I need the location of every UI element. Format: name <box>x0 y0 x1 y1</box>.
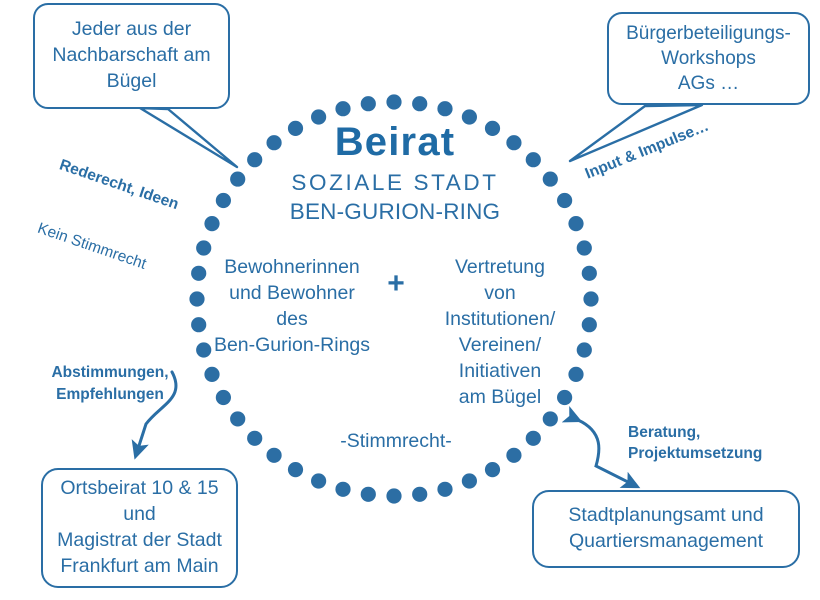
ring-dot <box>361 487 376 502</box>
ring-dot <box>437 101 452 116</box>
label-rederecht: Rederecht, Ideen Kein Stimmrecht <box>19 112 196 323</box>
bubble-participation: Bürgerbeteiligungs- Workshops AGs … <box>607 12 810 105</box>
label-rederecht-bold: Rederecht, Ideen <box>56 154 181 216</box>
label-input-impulse: Input & Impulse… <box>582 116 712 185</box>
plus-icon: + <box>378 255 414 299</box>
ring-dot <box>412 487 427 502</box>
ring-dot <box>386 94 401 109</box>
label-rederecht-regular: Kein Stimmrecht <box>34 218 159 280</box>
title-subtitle-line2: BEN-GURION-RING <box>195 198 595 225</box>
membership-institutions: Vertretung von Institutionen/ Vereinen/ … <box>414 255 586 411</box>
ring-dot <box>288 462 303 477</box>
ring-dot <box>311 473 326 488</box>
title-subtitle-line1: SOZIALE STADT <box>195 168 595 198</box>
ring-dot <box>230 411 245 426</box>
ring-dot <box>577 240 592 255</box>
label-abstimmungen: Abstimmungen, Empfehlungen <box>30 362 190 405</box>
ring-dot <box>412 96 427 111</box>
ring-dot <box>196 240 211 255</box>
ring-dot <box>437 482 452 497</box>
box-ortsbeirat-text: Ortsbeirat 10 & 15 und Magistrat der Sta… <box>57 476 222 580</box>
diagram-canvas: Beirat SOZIALE STADT BEN-GURION-RING Bew… <box>0 0 820 600</box>
box-stadtplanungsamt-text: Stadtplanungsamt und Quartiersmanagement <box>568 503 763 555</box>
center-membership-columns: Bewohnerinnen und Bewohner des Ben-Gurio… <box>196 255 596 411</box>
ring-dot <box>543 411 558 426</box>
membership-residents: Bewohnerinnen und Bewohner des Ben-Gurio… <box>206 255 378 359</box>
ring-dot <box>386 488 401 503</box>
ring-dot <box>361 96 376 111</box>
bubble-participation-text: Bürgerbeteiligungs- Workshops AGs … <box>626 21 791 97</box>
page-title: Beirat <box>195 122 595 162</box>
box-stadtplanungsamt: Stadtplanungsamt und Quartiersmanagement <box>532 490 800 568</box>
bubble-neighbourhood-text: Jeder aus der Nachbarschaft am Bügel <box>52 17 210 95</box>
voting-rights-note: -Stimmrecht- <box>246 430 546 453</box>
label-beratung-bold: Beratung, Projektumsetzung <box>628 422 803 465</box>
bubble-neighbourhood: Jeder aus der Nachbarschaft am Bügel <box>33 3 230 109</box>
center-title-block: Beirat SOZIALE STADT BEN-GURION-RING <box>195 122 595 225</box>
box-ortsbeirat: Ortsbeirat 10 & 15 und Magistrat der Sta… <box>41 468 238 588</box>
ring-dot <box>335 101 350 116</box>
ring-dot <box>462 473 477 488</box>
ring-dot <box>485 462 500 477</box>
ring-dot <box>335 482 350 497</box>
